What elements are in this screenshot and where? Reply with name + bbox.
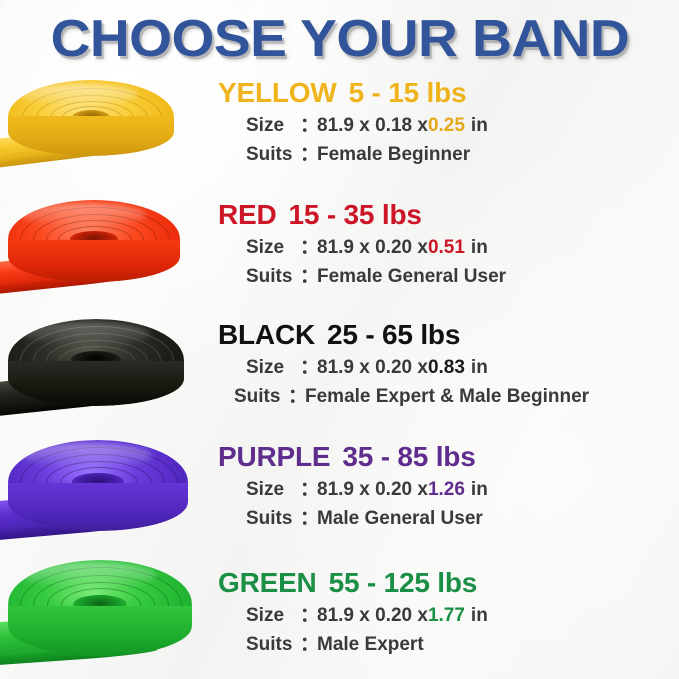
band-text-black: BLACK25 - 65 lbs Size ： 81.9 x 0.20 x 0.… [206,314,679,436]
band-row-black: BLACK25 - 65 lbs Size ： 81.9 x 0.20 x 0.… [0,314,679,436]
suits-label: Suits [234,384,288,409]
band-size-green: Size ： 81.9 x 0.20 x 1.77 in [218,603,488,628]
size-colon: ： [300,603,317,628]
band-art-red [0,194,222,314]
band-size-black: Size ： 81.9 x 0.20 x 0.83 in [218,355,488,380]
size-value: 81.9 x 0.20 x [317,235,428,260]
size-value: 81.9 x 0.20 x [317,603,428,628]
size-thickness: 1.77 [428,603,465,628]
band-suits-purple: Suits ： Male General User [218,506,483,531]
size-colon: ： [300,477,317,502]
size-colon: ： [300,113,317,138]
band-art-yellow [0,72,222,192]
band-heading-green: GREEN55 - 125 lbs [218,568,477,598]
size-label: Size [246,603,300,628]
size-unit: in [471,477,488,502]
band-name: GREEN [218,567,317,598]
band-name: PURPLE [218,441,330,472]
band-size-yellow: Size ： 81.9 x 0.18 x 0.25 in [218,113,488,138]
band-weight: 25 - 65 lbs [327,319,460,350]
band-row-red: RED15 - 35 lbs Size ： 81.9 x 0.20 x 0.51… [0,194,679,314]
size-value: 81.9 x 0.18 x [317,113,428,138]
band-name: YELLOW [218,77,337,108]
band-text-red: RED15 - 35 lbs Size ： 81.9 x 0.20 x 0.51… [206,194,679,314]
band-suits-green: Suits ： Male Expert [218,632,424,657]
band-name: BLACK [218,319,315,350]
band-heading-red: RED15 - 35 lbs [218,200,422,230]
size-unit: in [471,113,488,138]
band-image-green [0,558,212,679]
band-image-purple [0,436,212,560]
band-text-yellow: YELLOW5 - 15 lbs Size ： 81.9 x 0.18 x 0.… [206,72,679,192]
band-heading-purple: PURPLE35 - 85 lbs [218,442,476,472]
band-image-black [0,314,212,436]
band-size-red: Size ： 81.9 x 0.20 x 0.51 in [218,235,488,260]
page-title: CHOOSE YOUR BAND [0,8,679,70]
band-weight: 15 - 35 lbs [289,199,422,230]
band-heading-black: BLACK25 - 65 lbs [218,320,460,350]
suits-colon: ： [300,632,317,657]
band-weight: 35 - 85 lbs [342,441,475,472]
band-art-green [0,558,222,679]
size-thickness: 0.83 [428,355,465,380]
size-unit: in [471,235,488,260]
band-size-purple: Size ： 81.9 x 0.20 x 1.26 in [218,477,488,502]
suits-value: Male Expert [317,632,424,657]
band-suits-yellow: Suits ： Female Beginner [218,142,470,167]
suits-label: Suits [246,142,300,167]
band-text-green: GREEN55 - 125 lbs Size ： 81.9 x 0.20 x 1… [206,558,679,679]
band-row-green: GREEN55 - 125 lbs Size ： 81.9 x 0.20 x 1… [0,558,679,679]
size-label: Size [246,235,300,260]
suits-label: Suits [246,264,300,289]
suits-colon: ： [288,384,305,409]
band-art-purple [0,436,222,560]
page-title-text: CHOOSE YOUR BAND [50,13,629,65]
band-image-red [0,194,212,314]
band-row-purple: PURPLE35 - 85 lbs Size ： 81.9 x 0.20 x 1… [0,436,679,560]
suits-value: Female Expert & Male Beginner [305,384,589,409]
size-thickness: 0.25 [428,113,465,138]
size-value: 81.9 x 0.20 x [317,355,428,380]
suits-label: Suits [246,632,300,657]
band-name: RED [218,199,277,230]
band-image-yellow [0,72,212,192]
size-thickness: 0.51 [428,235,465,260]
suits-value: Female Beginner [317,142,470,167]
size-label: Size [246,477,300,502]
band-weight: 5 - 15 lbs [349,77,467,108]
suits-value: Female General User [317,264,506,289]
size-thickness: 1.26 [428,477,465,502]
size-label: Size [246,355,300,380]
size-colon: ： [300,355,317,380]
band-heading-yellow: YELLOW5 - 15 lbs [218,78,466,108]
band-text-purple: PURPLE35 - 85 lbs Size ： 81.9 x 0.20 x 1… [206,436,679,560]
band-suits-black: Suits ： Female Expert & Male Beginner [234,384,589,409]
infographic-root: CHOOSE YOUR BAND [0,0,679,679]
suits-value: Male General User [317,506,483,531]
size-value: 81.9 x 0.20 x [317,477,428,502]
suits-colon: ： [300,142,317,167]
suits-colon: ： [300,506,317,531]
size-label: Size [246,113,300,138]
suits-colon: ： [300,264,317,289]
size-unit: in [471,603,488,628]
size-unit: in [471,355,488,380]
band-suits-red: Suits ： Female General User [218,264,506,289]
band-row-yellow: YELLOW5 - 15 lbs Size ： 81.9 x 0.18 x 0.… [0,72,679,192]
band-weight: 55 - 125 lbs [329,567,478,598]
suits-label: Suits [246,506,300,531]
size-colon: ： [300,235,317,260]
band-art-black [0,314,222,436]
